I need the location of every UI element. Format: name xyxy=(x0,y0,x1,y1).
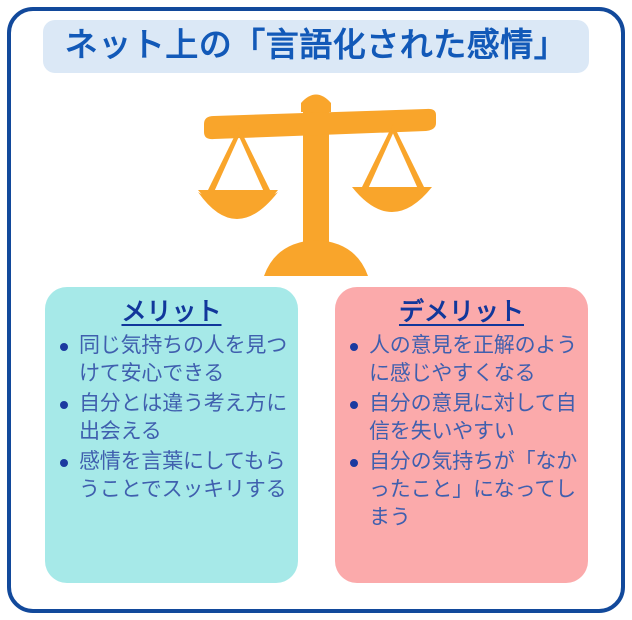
balance-scale-icon xyxy=(196,80,436,278)
cards-container: メリット 同じ気持ちの人を見つけて安心できる 自分とは違う考え方に出会える 感情… xyxy=(45,287,588,583)
list-item: 感情を言葉にしてもらうことでスッキリする xyxy=(55,448,288,504)
demerit-card: デメリット 人の意見を正解のように感じやすくなる 自分の意見に対して自信を失いや… xyxy=(335,287,588,583)
page-title: ネット上の「言語化された感情」 xyxy=(65,26,568,63)
merit-bullet-list: 同じ気持ちの人を見つけて安心できる 自分とは違う考え方に出会える 感情を言葉にし… xyxy=(55,332,288,504)
merit-card-heading: メリット xyxy=(55,297,288,328)
list-item: 自分の意見に対して自信を失いやすい xyxy=(345,390,578,446)
merit-card: メリット 同じ気持ちの人を見つけて安心できる 自分とは違う考え方に出会える 感情… xyxy=(45,287,298,583)
infographic-root: ネット上の「言語化された感情」 xyxy=(0,0,632,620)
list-item: 人の意見を正解のように感じやすくなる xyxy=(345,332,578,388)
demerit-bullet-list: 人の意見を正解のように感じやすくなる 自分の意見に対して自信を失いやすい 自分の… xyxy=(345,332,578,531)
title-container: ネット上の「言語化された感情」 xyxy=(0,20,632,73)
list-item: 同じ気持ちの人を見つけて安心できる xyxy=(55,332,288,388)
title-pill: ネット上の「言語化された感情」 xyxy=(43,20,590,73)
list-item: 自分とは違う考え方に出会える xyxy=(55,390,288,446)
demerit-card-heading: デメリット xyxy=(345,297,578,328)
list-item: 自分の気持ちが「なかったこと」になってしまう xyxy=(345,448,578,532)
